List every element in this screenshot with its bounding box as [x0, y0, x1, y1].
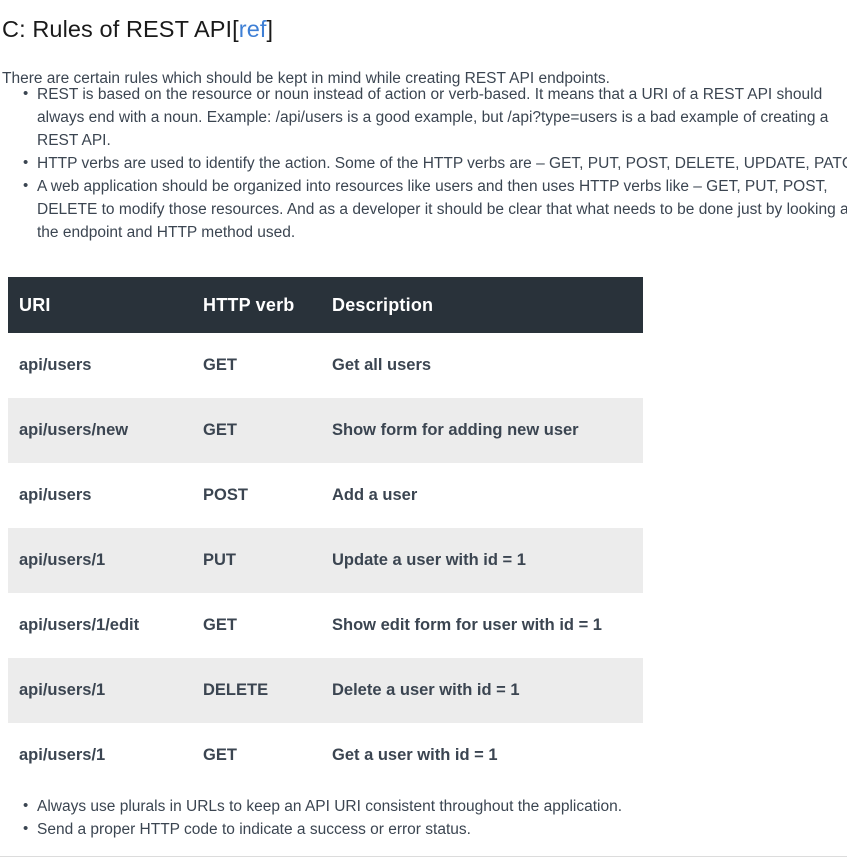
rest-endpoints-table: URI HTTP verb Description api/users GET … — [8, 277, 643, 788]
cell-verb: DELETE — [203, 658, 332, 723]
list-item: HTTP verbs are used to identify the acti… — [37, 152, 847, 175]
cell-description: Update a user with id = 1 — [332, 528, 643, 593]
bottom-divider — [0, 856, 847, 857]
cell-uri: api/users/1 — [8, 658, 203, 723]
table-row: api/users/1 DELETE Delete a user with id… — [8, 658, 643, 723]
cell-description: Add a user — [332, 463, 643, 528]
cell-description: Get all users — [332, 333, 643, 398]
bracket-open: [ — [232, 16, 239, 42]
table-row: api/users/1 PUT Update a user with id = … — [8, 528, 643, 593]
cell-uri: api/users — [8, 333, 203, 398]
cell-verb: GET — [203, 723, 332, 788]
table-row: api/users/1 GET Get a user with id = 1 — [8, 723, 643, 788]
page-title-text: C: Rules of REST API — [2, 16, 232, 42]
list-item: A web application should be organized in… — [37, 175, 847, 244]
page-title: C: Rules of REST API[ref] — [2, 14, 273, 44]
cell-uri: api/users/1 — [8, 528, 203, 593]
list-item: REST is based on the resource or noun in… — [37, 83, 847, 152]
bracket-close: ] — [267, 16, 274, 42]
cell-verb: GET — [203, 398, 332, 463]
cell-uri: api/users/1/edit — [8, 593, 203, 658]
table-header: URI HTTP verb Description — [8, 277, 643, 333]
cell-verb: PUT — [203, 528, 332, 593]
table-body: api/users GET Get all users api/users/ne… — [8, 333, 643, 788]
table-row: api/users/1/edit GET Show edit form for … — [8, 593, 643, 658]
rules-list-after-table: Always use plurals in URLs to keep an AP… — [0, 795, 847, 841]
cell-verb: POST — [203, 463, 332, 528]
cell-description: Show edit form for user with id = 1 — [332, 593, 643, 658]
table-header-row: URI HTTP verb Description — [8, 277, 643, 333]
rules-list-before-table: REST is based on the resource or noun in… — [0, 83, 847, 244]
column-header-description: Description — [332, 277, 643, 333]
list-item: Send a proper HTTP code to indicate a su… — [37, 818, 847, 841]
cell-verb: GET — [203, 593, 332, 658]
cell-description: Delete a user with id = 1 — [332, 658, 643, 723]
table-row: api/users GET Get all users — [8, 333, 643, 398]
cell-uri: api/users/1 — [8, 723, 203, 788]
cell-uri: api/users/new — [8, 398, 203, 463]
table-row: api/users POST Add a user — [8, 463, 643, 528]
reference-link[interactable]: ref — [239, 16, 267, 42]
cell-description: Show form for adding new user — [332, 398, 643, 463]
table-row: api/users/new GET Show form for adding n… — [8, 398, 643, 463]
column-header-http-verb: HTTP verb — [203, 277, 332, 333]
column-header-uri: URI — [8, 277, 203, 333]
list-item: Always use plurals in URLs to keep an AP… — [37, 795, 847, 818]
cell-uri: api/users — [8, 463, 203, 528]
cell-verb: GET — [203, 333, 332, 398]
cell-description: Get a user with id = 1 — [332, 723, 643, 788]
